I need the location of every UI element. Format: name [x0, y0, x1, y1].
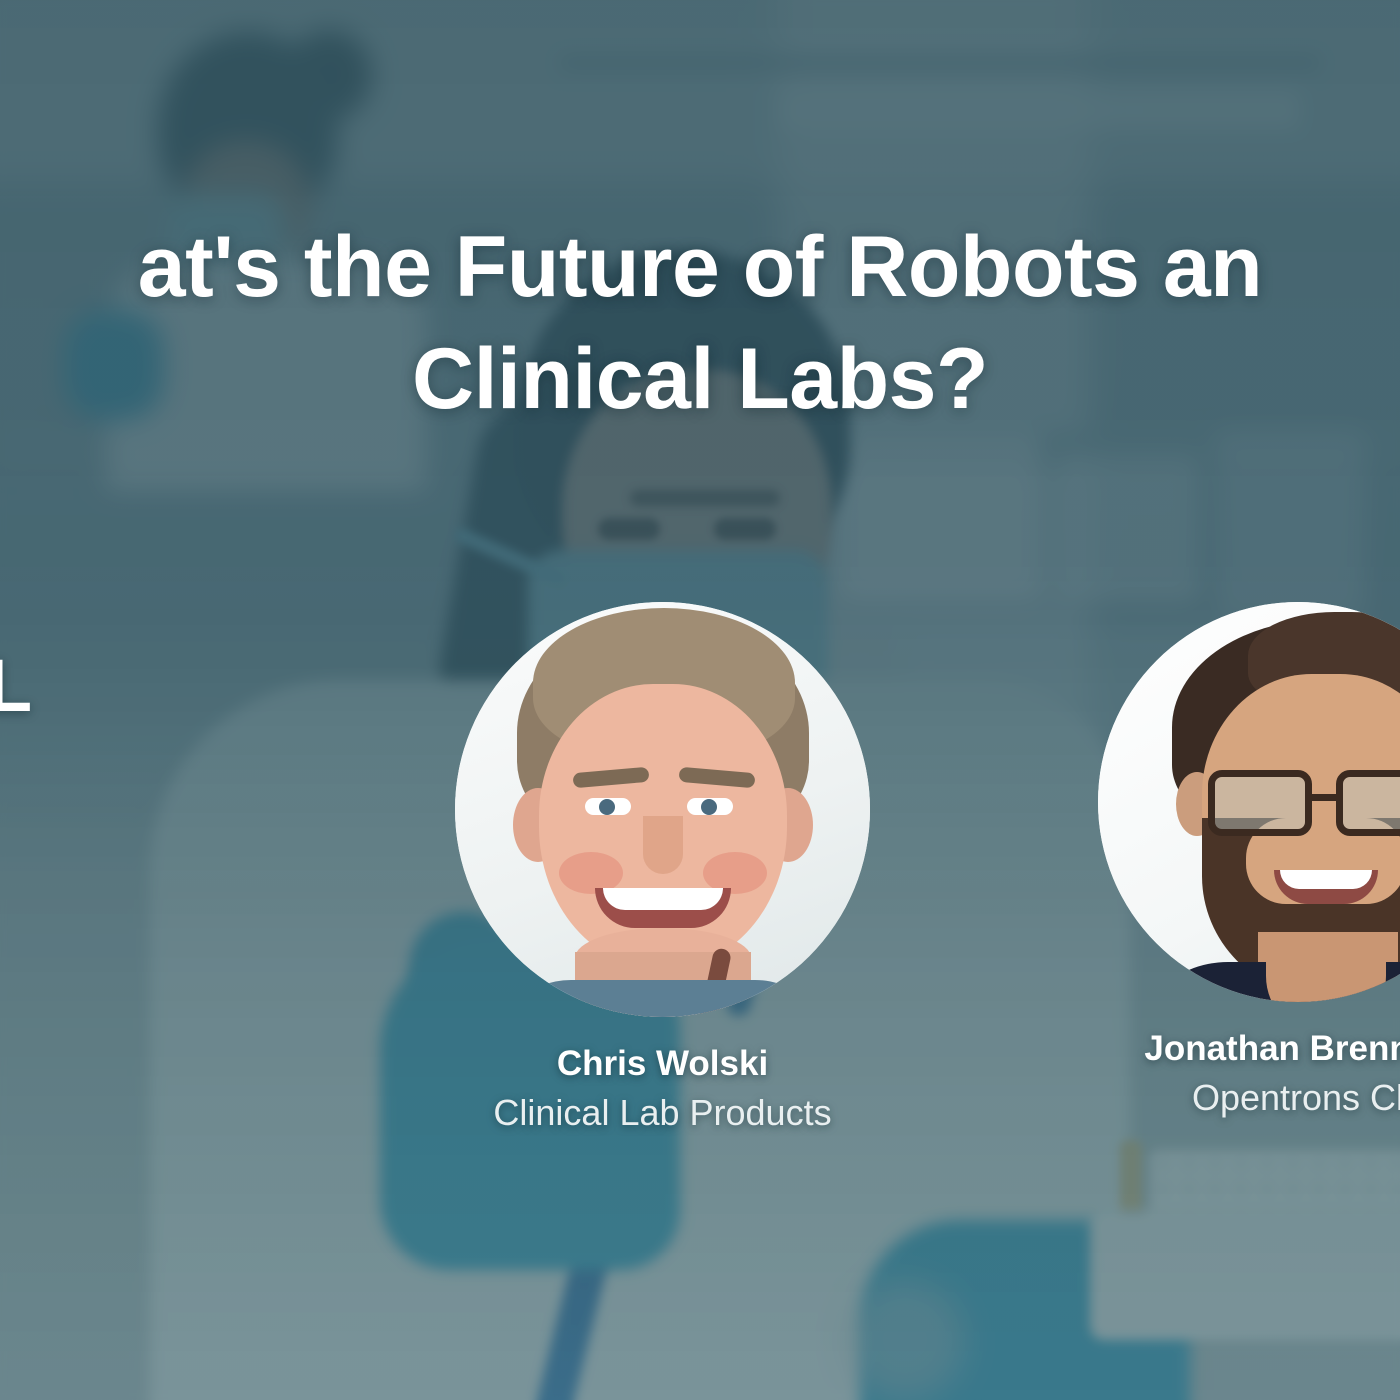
- speaker-organization: Clinical Lab Products: [455, 1091, 870, 1134]
- speaker-card-chris-wolski: Chris Wolski Clinical Lab Products: [455, 602, 870, 1134]
- avatar: [455, 602, 870, 1017]
- brand-logo: CAL hat AST: [0, 650, 182, 797]
- brand-logo-line-2: hat: [0, 721, 182, 796]
- brand-logo-line-1: CAL: [0, 650, 182, 721]
- avatar: [1098, 602, 1400, 1002]
- speaker-name: Chris Wolski: [455, 1043, 870, 1085]
- episode-title: at's the Future of Robots an Clinical La…: [0, 212, 1400, 436]
- speaker-name: Jonathan Brennan: [1098, 1028, 1400, 1070]
- episode-title-line-2: Clinical Labs?: [0, 324, 1400, 436]
- speaker-organization: Opentrons Cl: [1098, 1076, 1400, 1119]
- episode-title-line-1: at's the Future of Robots an: [138, 219, 1262, 315]
- speaker-card-jonathan-brennan: Jonathan Brennan Opentrons Cl: [1098, 602, 1400, 1119]
- podcast-episode-cover: at's the Future of Robots an Clinical La…: [0, 0, 1400, 1400]
